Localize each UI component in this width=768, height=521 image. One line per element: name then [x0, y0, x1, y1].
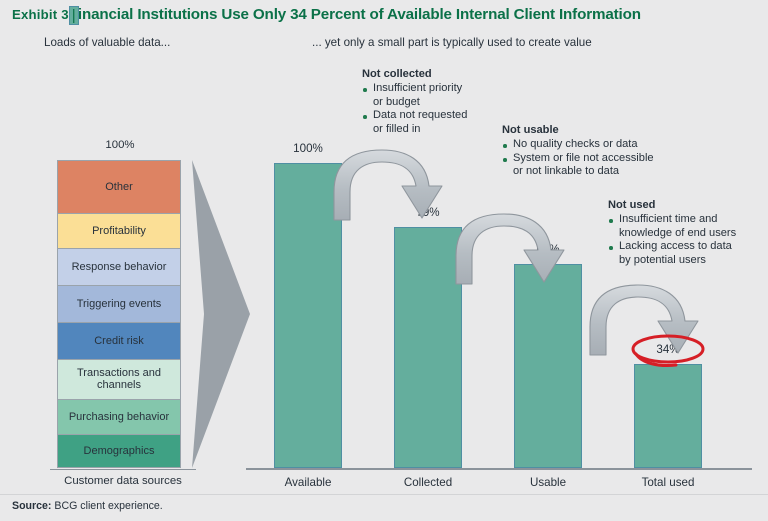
title-separator: |: [69, 6, 79, 25]
stacked-axis-line: [50, 469, 196, 470]
bar-total-used: [634, 364, 702, 468]
stack-segment: Profitability: [58, 214, 180, 250]
curved-arrow-not-collected-icon: [330, 148, 462, 233]
bar-category-label: Total used: [608, 476, 728, 489]
stack-segment-label: Credit risk: [94, 335, 144, 347]
annotation-heading: Not used: [608, 199, 768, 212]
stack-segment-label: Profitability: [92, 225, 146, 237]
annotation-bullet-list: No quality checks or dataSystem or file …: [502, 138, 702, 178]
stacked-axis-label: Customer data sources: [35, 475, 211, 487]
annotation-bullet-line: No quality checks or data: [513, 138, 702, 151]
stack-segment: Demographics: [58, 435, 180, 467]
source-note: Source: BCG client experience.: [12, 500, 163, 512]
subhead-left: Loads of valuable data...: [44, 36, 170, 49]
annotation-bullet-line: Insufficient time and: [619, 213, 768, 226]
annotation-heading: Not collected: [362, 68, 507, 81]
footer-divider: [0, 494, 768, 495]
curved-arrow-not-usable-icon: [452, 212, 584, 297]
title-text: Financial Institutions Use Only 34 Perce…: [69, 6, 641, 23]
annotation-bullet-list: Insufficient priorityor budgetData not r…: [362, 82, 507, 136]
stack-segment-label: Other: [105, 181, 133, 193]
annotation-bullet-line: knowledge of end users: [619, 227, 768, 240]
annotation-bullet: Lacking access to databy potential users: [608, 240, 768, 267]
stack-segment: Triggering events: [58, 286, 180, 323]
stack-segment: Purchasing behavior: [58, 400, 180, 435]
stack-segment-label: Demographics: [84, 445, 155, 457]
annotation-not-collected: Not collectedInsufficient priorityor bud…: [362, 68, 507, 137]
annotation-bullet-line: Data not requested: [373, 109, 507, 122]
stack-segment: Other: [58, 161, 180, 214]
stack-segment: Transactions and channels: [58, 360, 180, 401]
annotation-bullet-line: Lacking access to data: [619, 240, 768, 253]
exhibit-label: Exhibit 3: [12, 7, 69, 22]
annotation-bullet-line: or not linkable to data: [513, 165, 702, 178]
bar-category-label: Collected: [368, 476, 488, 489]
annotation-bullet-line: by potential users: [619, 254, 768, 267]
annotation-bullet: System or file not accessibleor not link…: [502, 152, 702, 179]
annotation-bullet-line: Insufficient priority: [373, 82, 507, 95]
page-title: Exhibit 3|Financial Institutions Use Onl…: [12, 6, 760, 23]
annotation-bullet-line: or budget: [373, 96, 507, 109]
annotation-bullet-line: System or file not accessible: [513, 152, 702, 165]
large-right-arrow-icon: [186, 160, 258, 468]
annotation-not-used: Not usedInsufficient time andknowledge o…: [608, 199, 768, 268]
annotation-bullet: Data not requestedor filled in: [362, 109, 507, 136]
bar-category-label: Available: [248, 476, 368, 489]
stack-segment: Credit risk: [58, 323, 180, 360]
annotation-bullet: Insufficient time andknowledge of end us…: [608, 213, 768, 240]
annotation-not-usable: Not usableNo quality checks or dataSyste…: [502, 124, 702, 179]
annotation-bullet-list: Insufficient time andknowledge of end us…: [608, 213, 768, 267]
stack-segment: Response behavior: [58, 249, 180, 286]
annotation-bullet: No quality checks or data: [502, 138, 702, 151]
stack-segment-label: Response behavior: [72, 261, 167, 273]
chart-baseline-axis: [246, 468, 752, 470]
highlight-ellipse-34-percent: [628, 330, 708, 368]
source-label: Source:: [12, 500, 51, 512]
annotation-bullet: Insufficient priorityor budget: [362, 82, 507, 109]
subhead-right: ... yet only a small part is typically u…: [312, 36, 592, 49]
stack-segment-label: Purchasing behavior: [69, 411, 169, 423]
stacked-total-label: 100%: [57, 139, 183, 151]
stack-segment-label: Triggering events: [77, 298, 162, 310]
bar-category-label: Usable: [488, 476, 608, 489]
source-text: BCG client experience.: [54, 500, 162, 512]
stack-segment-label: Transactions and channels: [58, 367, 180, 392]
annotation-bullet-line: or filled in: [373, 123, 507, 136]
annotation-heading: Not usable: [502, 124, 702, 137]
stacked-bar-customer-data-sources: OtherProfitabilityResponse behaviorTrigg…: [57, 160, 181, 468]
